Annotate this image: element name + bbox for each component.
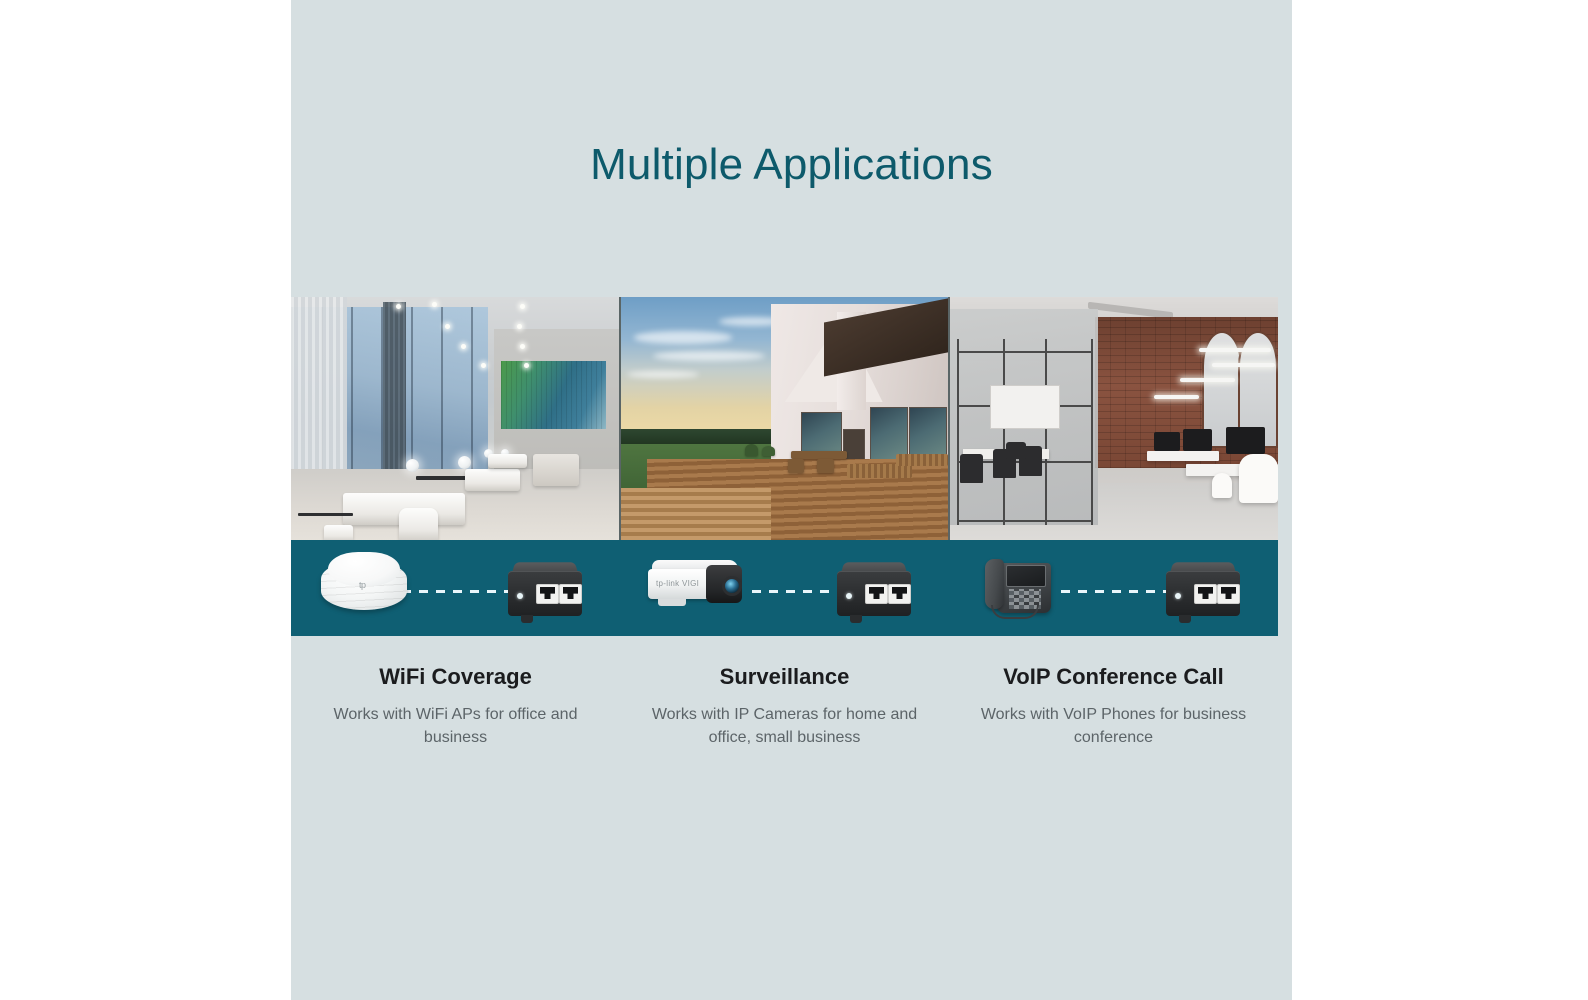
office-desk — [1147, 451, 1219, 461]
lounge-art-mural — [501, 361, 606, 430]
phone-handset-icon — [985, 559, 1004, 609]
rj45-port-icon — [559, 584, 582, 604]
phone-cord — [991, 605, 1039, 619]
caption-surveillance: Surveillance Works with IP Cameras for h… — [620, 664, 949, 750]
lounge-table — [298, 513, 354, 516]
injector-plug — [1179, 615, 1191, 623]
ceiling-light — [461, 344, 466, 349]
injector-led-icon — [1175, 593, 1181, 599]
injector-led-icon — [517, 593, 523, 599]
glass-mullion — [1045, 339, 1047, 525]
lounge-sofa — [488, 454, 527, 469]
rj45-port-icon — [888, 584, 911, 604]
injector-plug — [521, 615, 533, 623]
photo-voip-office — [950, 297, 1278, 542]
lounge-armchair — [399, 508, 438, 542]
ceiling-light — [524, 363, 529, 368]
diagram-row-surveillance: tp-link VIGI — [620, 540, 949, 636]
lounge-table — [416, 476, 472, 480]
content-panel: Multiple Applications — [291, 0, 1292, 1000]
injector-led-icon — [846, 593, 852, 599]
photo-wifi-lounge — [291, 297, 619, 542]
caption-voip-conference-call: VoIP Conference Call Works with VoIP Pho… — [949, 664, 1278, 750]
tp-link-vigi-logo-icon: tp-link VIGI — [656, 579, 699, 588]
office-chair — [1239, 454, 1278, 503]
office-chair — [1212, 473, 1232, 498]
rj45-port-icon — [1194, 584, 1217, 604]
deck-planter — [762, 446, 775, 456]
cloud — [634, 331, 732, 343]
ceiling-light — [445, 324, 450, 329]
house-window — [909, 407, 947, 460]
conference-chair — [960, 454, 983, 483]
rj45-port-icon — [1217, 584, 1240, 604]
poe-injector-icon — [508, 560, 582, 618]
application-photo-strip — [291, 297, 1278, 542]
diagram-row-voip — [949, 540, 1278, 636]
glass-mullion — [957, 520, 1091, 522]
cloud — [627, 371, 699, 378]
camera-lens-icon — [722, 576, 742, 596]
glass-mullion — [957, 351, 1091, 353]
deck-bench — [817, 459, 833, 474]
office-monitor — [1226, 427, 1265, 454]
conference-chair — [1006, 442, 1026, 459]
rj45-port-icon — [536, 584, 559, 604]
house-deck-lower — [621, 488, 772, 542]
page-stage: Multiple Applications — [0, 0, 1588, 1000]
photo-surveillance-house — [621, 297, 949, 542]
office-monitor — [1154, 432, 1180, 452]
lounge-lamp — [406, 459, 419, 472]
poe-injector-icon — [837, 560, 911, 618]
injector-plug — [850, 615, 862, 623]
deck-planter — [745, 444, 758, 456]
caption-title: VoIP Conference Call — [971, 664, 1256, 690]
office-monitor — [1183, 429, 1212, 451]
office-pendant-light — [1199, 348, 1271, 352]
office-pendant-light — [1154, 395, 1200, 399]
glass-mullion — [1003, 339, 1005, 525]
caption-wifi-coverage: WiFi Coverage Works with WiFi APs for of… — [291, 664, 620, 750]
caption-description: Works with WiFi APs for office and busin… — [313, 704, 598, 749]
page-title: Multiple Applications — [291, 141, 1292, 189]
caption-description: Works with IP Cameras for home and offic… — [642, 704, 927, 749]
ceiling-light — [432, 302, 437, 307]
lounge-counter — [533, 454, 579, 486]
office-whiteboard — [990, 385, 1061, 429]
glass-mullion — [957, 339, 959, 525]
device-diagram-band: tp — [291, 540, 1278, 636]
ceiling-light — [520, 344, 525, 349]
ip-camera-icon: tp-link VIGI — [642, 556, 750, 614]
application-captions: WiFi Coverage Works with WiFi APs for of… — [291, 664, 1278, 750]
wifi-access-point-icon: tp — [321, 552, 407, 616]
rj45-port-icon — [865, 584, 888, 604]
office-pendant-light — [1180, 378, 1236, 382]
phone-screen — [1006, 565, 1046, 587]
ceiling-light — [517, 324, 522, 329]
diagram-row-wifi: tp — [291, 540, 620, 636]
house-window — [870, 407, 908, 460]
deck-bench — [788, 459, 804, 474]
deck-lounger — [896, 454, 948, 466]
caption-description: Works with VoIP Phones for business conf… — [971, 704, 1256, 749]
deck-dining-table — [791, 451, 847, 458]
caption-title: Surveillance — [642, 664, 927, 690]
lounge-sofa — [465, 469, 521, 491]
voip-phone-icon — [983, 551, 1063, 617]
camera-mount — [658, 599, 686, 606]
caption-title: WiFi Coverage — [313, 664, 598, 690]
poe-injector-icon — [1166, 560, 1240, 618]
office-pendant-light — [1212, 363, 1274, 367]
cloud — [653, 351, 764, 361]
glass-mullion — [1091, 339, 1093, 525]
tp-link-logo-icon: tp — [359, 580, 366, 590]
